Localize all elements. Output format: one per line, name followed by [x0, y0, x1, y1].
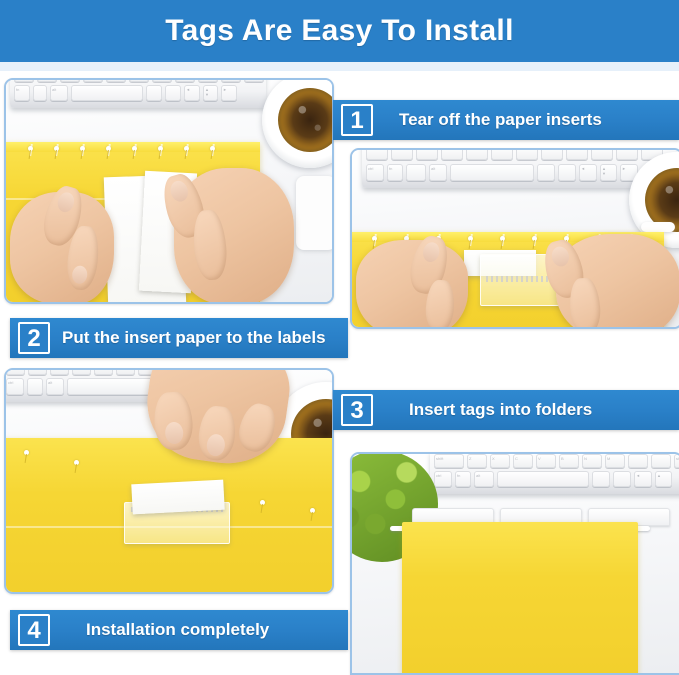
white-pen — [641, 222, 675, 232]
step-4-label-bar: 4 Installation completely — [10, 610, 348, 650]
left-hand — [10, 192, 114, 302]
step-1-number: 1 — [341, 104, 373, 136]
step-1-photo: fn alt ◄ ▲▼► — [4, 78, 334, 304]
step-3-label-bar: 3 Insert tags into folders — [333, 390, 679, 430]
step-4-text: Installation completely — [86, 620, 269, 640]
paper-insert-strip — [131, 480, 224, 515]
step-3-photo: ZX CV BN M ctrl alt — [4, 368, 334, 594]
header-underline — [0, 62, 679, 71]
page-title: Tags Are Easy To Install — [165, 14, 513, 48]
keyboard: fn alt ◄ ▲▼► — [10, 80, 266, 108]
header-banner: Tags Are Easy To Install — [0, 0, 679, 62]
step-2-label-bar: 2 Put the insert paper to the labels — [10, 318, 348, 358]
step-2-photo: ctrlfn alt ◄▲▼ ► — [350, 148, 679, 329]
index-finger — [191, 209, 229, 282]
yellow-folder — [402, 522, 638, 673]
step-3-text: Insert tags into folders — [409, 400, 592, 420]
step-3-number: 3 — [341, 394, 373, 426]
step-1-text: Tear off the paper inserts — [399, 110, 602, 130]
white-pen — [296, 176, 332, 250]
infographic-root: Tags Are Easy To Install fn alt — [0, 0, 679, 671]
step-2-number: 2 — [18, 322, 50, 354]
right-hand — [556, 234, 679, 327]
index-finger — [568, 277, 602, 327]
coffee-surface — [278, 88, 332, 152]
keyboard: ctrlfn alt ◄▲▼ ► — [362, 150, 650, 188]
step-4-photo: shiftZ XC VB NM shift ctrlfn alt ◄▲ — [350, 452, 679, 675]
index-finger — [196, 404, 237, 461]
right-hand — [174, 168, 294, 302]
step-2-text: Put the insert paper to the labels — [62, 328, 326, 348]
step-1-label-bar: 1 Tear off the paper inserts — [333, 100, 679, 140]
step-4-number: 4 — [18, 614, 50, 646]
left-hand — [356, 240, 468, 327]
keyboard: shiftZ XC VB NM shift ctrlfn alt ◄▲ — [430, 454, 679, 494]
